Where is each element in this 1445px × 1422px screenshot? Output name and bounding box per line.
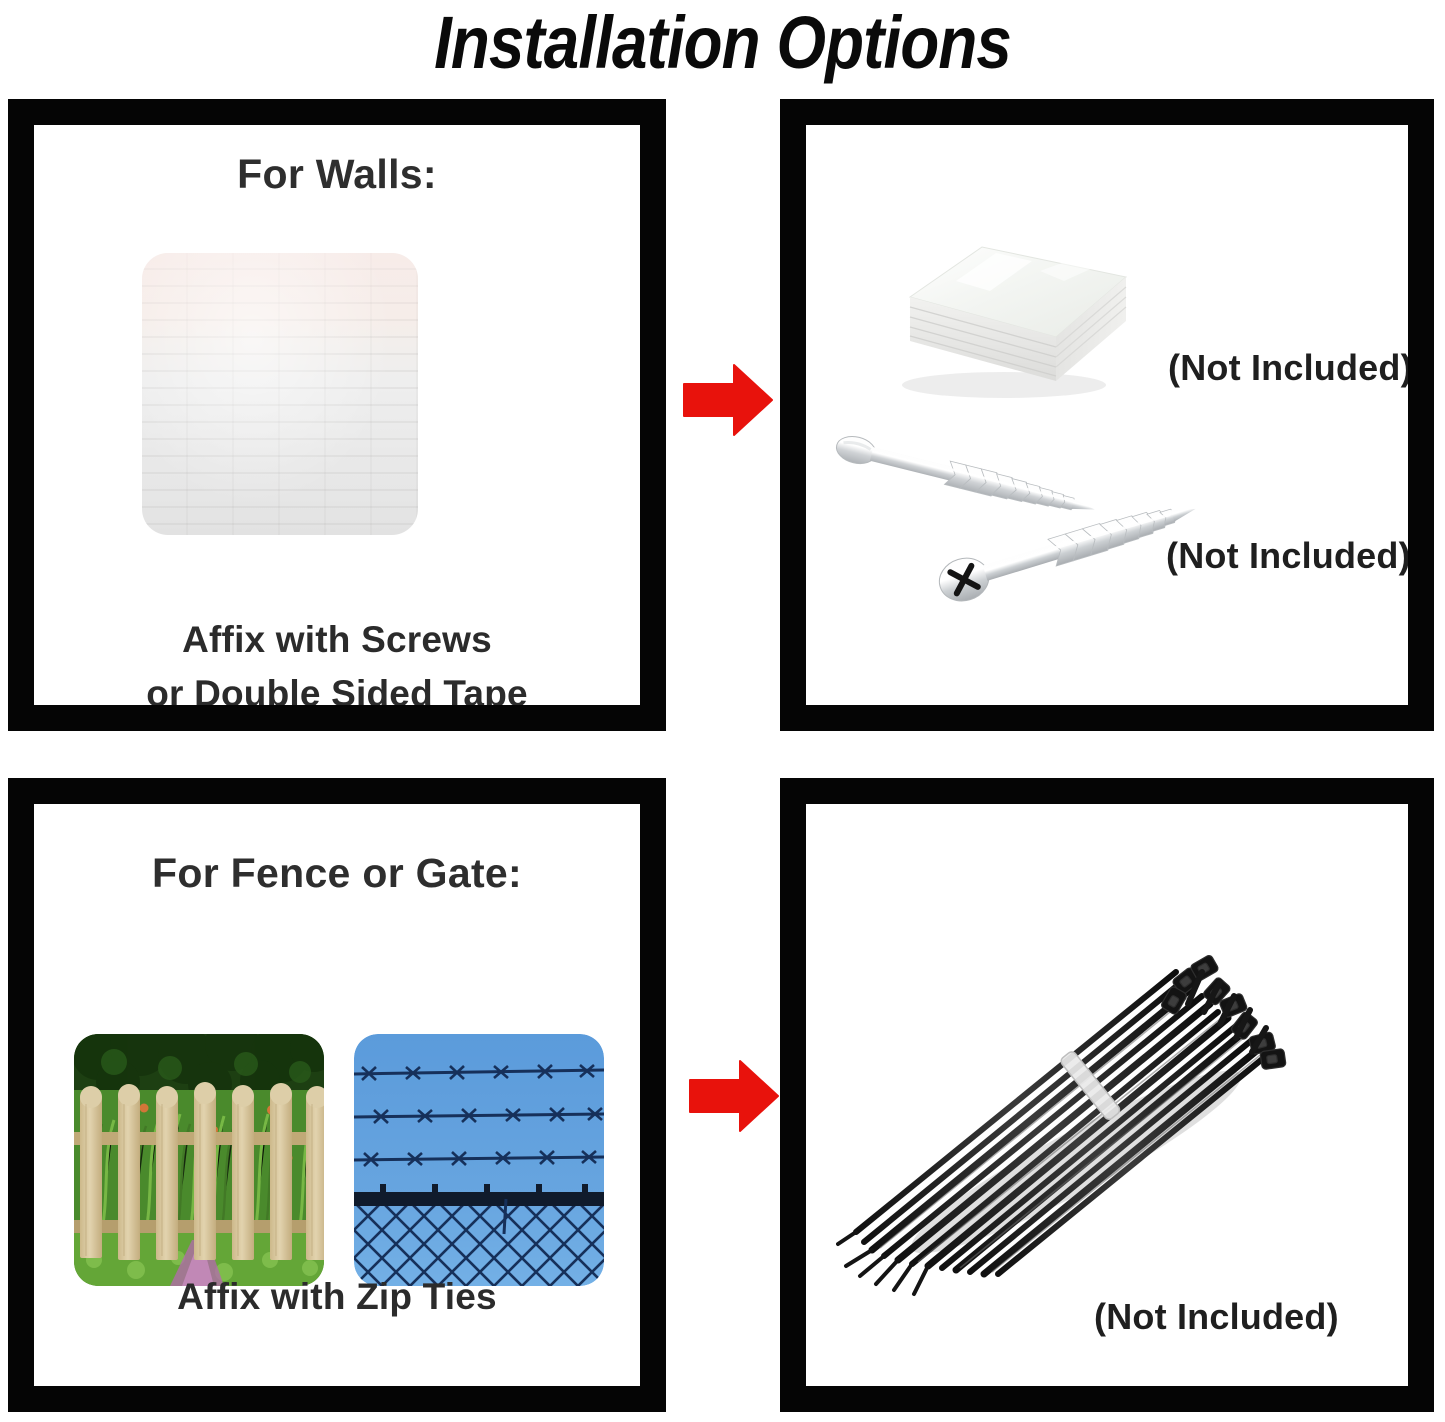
- panel-wall-hardware: (Not Included): [780, 99, 1434, 731]
- walls-caption-line-1: Affix with Screws: [34, 619, 640, 661]
- walls-caption-line-2: or Double Sided Tape: [34, 673, 640, 705]
- panel-fence-hardware-content: (Not Included): [806, 804, 1408, 1386]
- page-title: Installation Options: [101, 0, 1344, 88]
- black-zip-ties-bundle-image: [836, 900, 1316, 1300]
- installation-options-infographic: Installation Options For Walls: Affix wi…: [0, 0, 1445, 1422]
- for-fence-or-gate-heading: For Fence or Gate:: [34, 850, 640, 897]
- panel-fence-hardware: (Not Included): [780, 778, 1434, 1412]
- screws-not-included-label: (Not Included): [1166, 535, 1408, 577]
- red-right-arrow-icon: [682, 362, 774, 438]
- panel-for-walls-content: For Walls: Affix with Screws or Double S…: [34, 125, 640, 705]
- white-painted-brick-wall-thumbnail: [142, 253, 418, 535]
- chain-link-barbed-wire-fence-thumbnail: [354, 1034, 604, 1286]
- panel-for-fence-content: For Fence or Gate:: [34, 804, 640, 1386]
- fence-caption-line-1: Affix with Zip Ties: [34, 1276, 640, 1318]
- for-walls-heading: For Walls:: [34, 151, 640, 198]
- zip-ties-not-included-label: (Not Included): [1094, 1296, 1339, 1338]
- panel-for-fence-or-gate: For Fence or Gate:: [8, 778, 666, 1412]
- tape-not-included-label: (Not Included): [1168, 347, 1408, 389]
- red-right-arrow-icon: [688, 1058, 780, 1134]
- panel-for-walls: For Walls: Affix with Screws or Double S…: [8, 99, 666, 731]
- panel-wall-hardware-content: (Not Included): [806, 125, 1408, 705]
- double-sided-tape-stack-image: [864, 233, 1132, 405]
- paint-wash-overlay: [142, 253, 418, 535]
- wooden-picket-fence-thumbnail: [74, 1034, 324, 1286]
